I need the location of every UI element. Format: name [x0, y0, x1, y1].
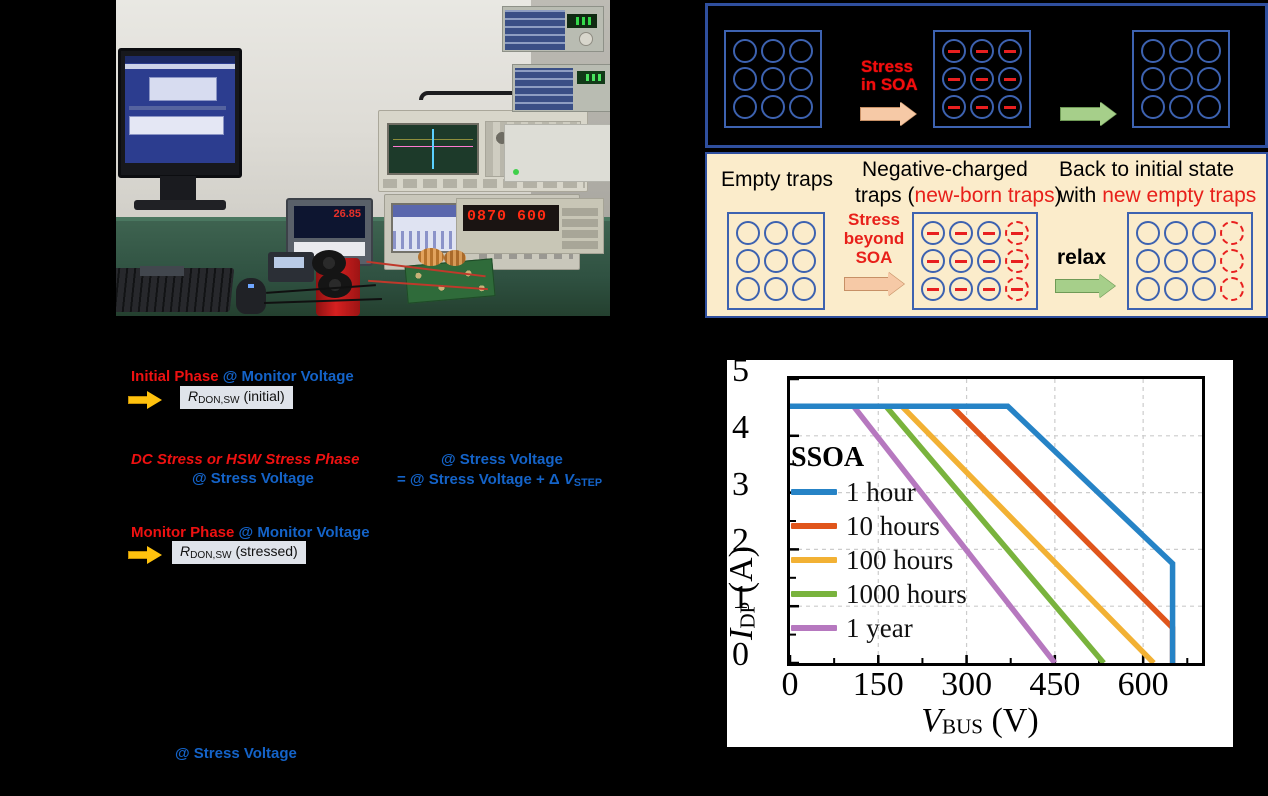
- trap-circle: [733, 39, 757, 63]
- trap-circle-new-empty: [1220, 221, 1244, 245]
- trap-stress-line1: Stress: [843, 210, 905, 229]
- y-axis-symbol: I: [723, 629, 760, 640]
- vstep-symbol: V: [564, 471, 574, 488]
- ssoa-chart-panel: 012345 0150300450600 IDP (A) VBUS (V) SS…: [727, 360, 1233, 747]
- stress-voltage-note-line1: @ Stress Voltage: [441, 451, 563, 468]
- trap-circle: [1141, 67, 1165, 91]
- trap-circle: [761, 67, 785, 91]
- rdon-stressed-box: RDON,SW (stressed): [172, 541, 306, 564]
- photo-monitor-screen: [125, 56, 235, 163]
- trap-circle: [1192, 249, 1216, 273]
- trap-circle: [761, 39, 785, 63]
- trap-circle: [792, 249, 816, 273]
- trap-stress-arrow-icon: [844, 272, 906, 296]
- trap-circle: [1164, 221, 1188, 245]
- photo-instrument-box: [504, 124, 610, 182]
- trap-circle-new-empty: [1220, 249, 1244, 273]
- trap-box-charged-newborn: [912, 212, 1038, 310]
- photo-ps1-louvers: [505, 10, 565, 50]
- legend-item[interactable]: 10 hours: [791, 509, 967, 543]
- x-tick-label: 150: [838, 666, 918, 704]
- photo-screen-toolbar: [125, 64, 235, 69]
- lab-bench-photo: 26.85 0870 600: [116, 0, 610, 316]
- soa-stress-line2: in SOA: [861, 76, 918, 94]
- legend-color-swatch: [791, 489, 837, 495]
- trap-circle: [789, 67, 813, 91]
- photo-ps2-louvers: [515, 68, 573, 110]
- y-tick-label: 4: [709, 409, 749, 447]
- trap-circle: [736, 277, 760, 301]
- soa-stress-line1: Stress: [861, 58, 918, 76]
- trap-circle-charged: [998, 39, 1022, 63]
- initial-phase-arrow-icon: [128, 391, 162, 409]
- trap-box-charged: [933, 30, 1031, 128]
- photo-monitor-base: [134, 200, 226, 210]
- trap-circle-charged: [921, 249, 945, 273]
- trap-circle: [764, 277, 788, 301]
- trap-circle: [1192, 277, 1216, 301]
- monitor-phase-label: Monitor Phase: [131, 524, 234, 541]
- stress-voltage-note-prefix: = @ Stress Voltage + Δ: [397, 471, 564, 488]
- x-tick-label: 0: [750, 666, 830, 704]
- initial-phase-label: Initial Phase: [131, 368, 219, 385]
- trap-circle: [1136, 221, 1160, 245]
- trap-caption-traps-prefix: traps (: [855, 184, 915, 207]
- legend-item-label: 1000 hours: [846, 579, 967, 610]
- trap-circle: [1164, 277, 1188, 301]
- legend-rows: 1 hour10 hours100 hours1000 hours1 year: [791, 475, 967, 645]
- legend-item-label: 10 hours: [846, 511, 940, 542]
- x-axis-subscript: BUS: [942, 715, 983, 739]
- trap-circle-charged: [942, 67, 966, 91]
- trap-circle: [1164, 249, 1188, 273]
- trap-circle: [792, 221, 816, 245]
- x-axis-label: VBUS (V): [727, 702, 1233, 740]
- photo-ps2-display: [577, 71, 605, 84]
- trap-circle-charged: [942, 95, 966, 119]
- photo-temp-stand: [140, 266, 184, 276]
- initial-phase-heading: Initial Phase @ Monitor Voltage: [131, 368, 354, 385]
- trap-box-recovered: [1132, 30, 1230, 128]
- trap-circle: [1192, 221, 1216, 245]
- photo-dmm-reading: 0870 600: [467, 208, 547, 225]
- trap-circle: [1169, 67, 1193, 91]
- trap-caption-empty: Empty traps: [721, 168, 833, 192]
- rdon-initial-subscript: DON,SW: [198, 395, 239, 406]
- photo-ps1-knob: [579, 32, 593, 46]
- trap-circle-charged: [998, 95, 1022, 119]
- photo-power-supply-2: [512, 64, 610, 112]
- monitor-phase-arrow-icon: [128, 546, 162, 564]
- photo-monitor-stand: [160, 176, 196, 202]
- trap-box-new-empty: [1127, 212, 1253, 310]
- photo-dmm-keypad: [562, 205, 598, 249]
- photo-screen-strip: [129, 106, 226, 110]
- photo-ps1-display: [567, 14, 597, 28]
- trap-circle-newborn: [1005, 249, 1029, 273]
- x-tick-label: 450: [1015, 666, 1095, 704]
- rdon-stressed-subscript: DON,SW: [190, 550, 231, 561]
- soa-stress-arrow-icon: [860, 102, 920, 126]
- monitor-phase-voltage: @ Monitor Voltage: [239, 524, 370, 541]
- trap-circle-charged: [949, 277, 973, 301]
- photo-inductor-1: [418, 248, 444, 266]
- legend-color-swatch: [791, 523, 837, 529]
- photo-scope-top-screen: [387, 123, 479, 175]
- legend-item[interactable]: 1 year: [791, 611, 967, 645]
- rdon-initial-box: RDON,SW (initial): [180, 386, 293, 409]
- photo-screen-dialog: [149, 77, 217, 101]
- y-tick-label: 5: [709, 352, 749, 390]
- trap-stress-line3: SOA: [843, 248, 905, 267]
- x-axis-symbol: V: [921, 702, 942, 739]
- trap-relax-label: relax: [1057, 246, 1106, 270]
- stress-voltage-note-line2: = @ Stress Voltage + Δ VSTEP: [397, 471, 602, 489]
- trap-circle-charged: [977, 249, 1001, 273]
- vstep-subscript: STEP: [574, 477, 602, 489]
- photo-programmable-power-supply: 0870 600: [456, 198, 604, 254]
- trap-circle-charged: [949, 221, 973, 245]
- photo-screen-titlebar: [125, 56, 235, 63]
- legend-item-label: 1 year: [846, 613, 913, 644]
- legend-color-swatch: [791, 557, 837, 563]
- trap-circle: [733, 67, 757, 91]
- y-tick-label: 0: [709, 636, 749, 674]
- photo-mouse-led: [248, 284, 254, 288]
- x-axis-unit: (V): [992, 702, 1039, 739]
- legend-item-label: 1 hour: [846, 477, 916, 508]
- trap-circle: [1197, 39, 1221, 63]
- initial-phase-voltage: @ Monitor Voltage: [223, 368, 354, 385]
- trap-circle-charged: [970, 39, 994, 63]
- slide-root: 26.85 0870 600: [0, 0, 1268, 796]
- trap-circle-charged: [998, 67, 1022, 91]
- trap-caption-with: with: [1059, 184, 1102, 207]
- monitor-phase-heading: Monitor Phase @ Monitor Voltage: [131, 524, 370, 541]
- trap-stress-label: Stress beyond SOA: [843, 210, 905, 267]
- trap-circle: [789, 39, 813, 63]
- photo-power-supply-1: [502, 6, 604, 52]
- trap-circle: [761, 95, 785, 119]
- trap-circle: [1169, 39, 1193, 63]
- legend-color-swatch: [791, 591, 837, 597]
- trap-box-initial: [724, 30, 822, 128]
- legend-item-label: 100 hours: [846, 545, 953, 576]
- trap-caption-new-empty: new empty traps: [1102, 184, 1256, 207]
- y-tick-label: 3: [709, 466, 749, 504]
- photo-monitor: [118, 48, 242, 178]
- trap-circle: [736, 249, 760, 273]
- trap-circle-charged: [977, 221, 1001, 245]
- trap-circle: [1136, 277, 1160, 301]
- trap-circle: [733, 95, 757, 119]
- legend-title: SSOA: [791, 442, 967, 474]
- bottom-stress-voltage-label: @ Stress Voltage: [175, 745, 297, 762]
- trap-relax-arrow-icon: [1055, 274, 1117, 298]
- trap-circle: [792, 277, 816, 301]
- trap-circle-charged: [977, 277, 1001, 301]
- legend-item[interactable]: 1000 hours: [791, 577, 967, 611]
- trap-caption-negative-line2: traps (new-born traps): [855, 184, 1062, 208]
- legend-item[interactable]: 100 hours: [791, 543, 967, 577]
- y-axis-unit: (A): [723, 546, 760, 593]
- trap-caption-back-line2: with new empty traps: [1059, 184, 1256, 208]
- rdon-stressed-symbol: R: [180, 543, 190, 559]
- trap-caption-newborn: new-born traps: [915, 184, 1055, 207]
- trap-circle-charged: [949, 249, 973, 273]
- trap-circle: [764, 249, 788, 273]
- rdon-stressed-suffix: (stressed): [235, 543, 297, 559]
- photo-temp-reading: 26.85: [333, 208, 361, 220]
- x-tick-label: 300: [927, 666, 1007, 704]
- trap-circle-charged: [921, 221, 945, 245]
- trap-circle-charged: [942, 39, 966, 63]
- trap-circle: [764, 221, 788, 245]
- trap-circle: [1197, 95, 1221, 119]
- stress-phase-heading: DC Stress or HSW Stress Phase: [131, 451, 359, 468]
- trap-circle: [1141, 95, 1165, 119]
- stress-phase-voltage: @ Stress Voltage: [192, 470, 314, 487]
- trap-caption-negative-line1: Negative-charged: [862, 158, 1028, 182]
- photo-instrument-led: [513, 169, 519, 175]
- trap-circle-charged: [921, 277, 945, 301]
- chart-legend: SSOA 1 hour10 hours100 hours1000 hours1 …: [791, 442, 967, 645]
- trap-circle-charged: [970, 67, 994, 91]
- trap-circle-charged: [970, 95, 994, 119]
- trap-circle: [1169, 95, 1193, 119]
- photo-screen-console: [129, 116, 224, 135]
- trap-circle-newborn: [1005, 221, 1029, 245]
- trap-caption-back-line1: Back to initial state: [1059, 158, 1234, 182]
- photo-inductor-2: [444, 250, 466, 266]
- trap-box-empty: [727, 212, 825, 310]
- trap-generation-diagram: Empty traps Negative-charged traps (new-…: [705, 152, 1268, 318]
- soa-stress-label: Stress in SOA: [861, 58, 918, 94]
- y-axis-label: IDP (A): [723, 546, 761, 640]
- trap-circle-new-empty: [1220, 277, 1244, 301]
- soa-stress-diagram: Stress in SOA: [705, 3, 1268, 148]
- legend-color-swatch: [791, 625, 837, 631]
- trap-circle: [789, 95, 813, 119]
- trap-circle: [1141, 39, 1165, 63]
- legend-item[interactable]: 1 hour: [791, 475, 967, 509]
- rdon-initial-symbol: R: [188, 388, 198, 404]
- trap-circle-newborn: [1005, 277, 1029, 301]
- soa-relax-arrow-icon: [1060, 102, 1120, 126]
- trap-circle: [736, 221, 760, 245]
- trap-circle: [1197, 67, 1221, 91]
- trap-circle: [1136, 249, 1160, 273]
- photo-fan-2: [318, 272, 352, 298]
- rdon-initial-suffix: (initial): [243, 388, 284, 404]
- trap-stress-line2: beyond: [843, 229, 905, 248]
- y-axis-subscript: DP: [736, 602, 760, 629]
- x-tick-label: 600: [1103, 666, 1183, 704]
- photo-handheld-probe: [268, 252, 314, 282]
